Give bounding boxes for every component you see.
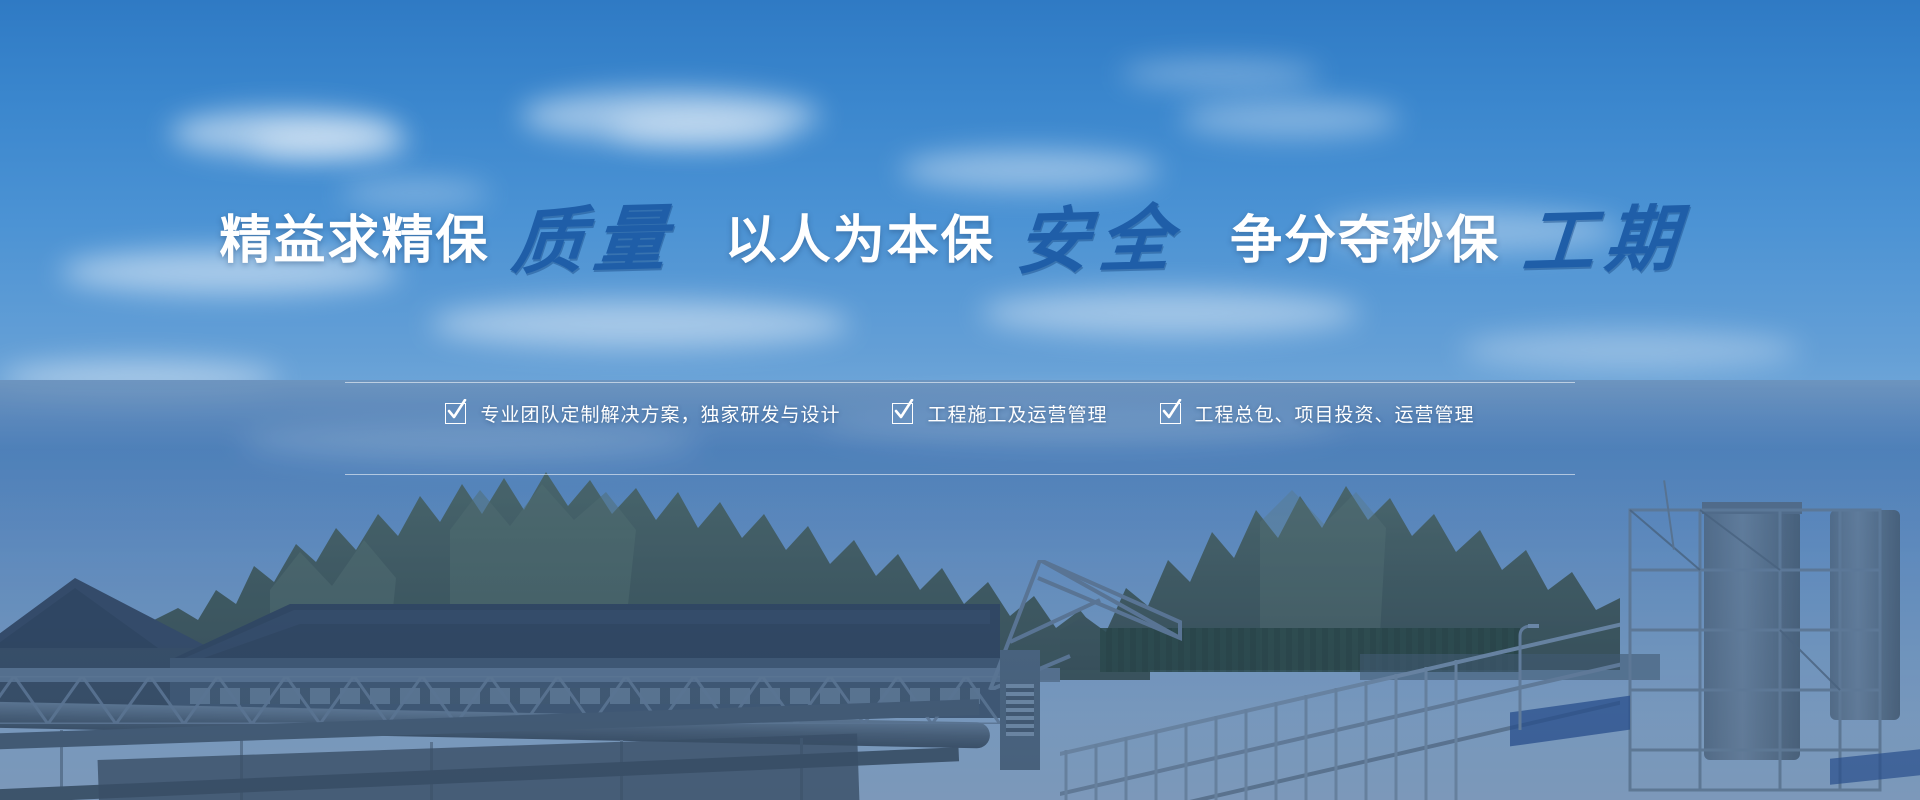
feature-item-label: 专业团队定制解决方案，独家研发与设计: [480, 400, 840, 427]
checkbox-checked-icon: [445, 403, 466, 424]
divider-bottom: [345, 474, 1575, 475]
feature-item-2[interactable]: 工程施工及运营管理: [892, 400, 1107, 427]
headline-segment-calligraphy-quality: 质量: [509, 203, 679, 279]
hero-banner: 精益求精保 质量 以人为本保 安全 争分夺秒保 工期 专业团队定制解决方案，独家…: [0, 0, 1920, 800]
headline-segment-plain-1: 精益求精保: [219, 215, 489, 267]
feature-list: 专业团队定制解决方案，独家研发与设计 工程施工及运营管理 工程总包、项目投资、运…: [0, 400, 1920, 427]
divider-top: [345, 382, 1575, 383]
headline-segment-plain-2: 以人为本保: [725, 215, 995, 267]
checkbox-checked-icon: [892, 403, 913, 424]
feature-item-label: 工程总包、项目投资、运营管理: [1195, 400, 1475, 427]
headline-segment-calligraphy-safety: 安全: [1014, 203, 1184, 279]
checkbox-checked-icon: [1160, 403, 1181, 424]
feature-item-1[interactable]: 专业团队定制解决方案，独家研发与设计: [445, 400, 840, 427]
feature-item-3[interactable]: 工程总包、项目投资、运营管理: [1160, 400, 1475, 427]
banner-content: 精益求精保 质量 以人为本保 安全 争分夺秒保 工期 专业团队定制解决方案，独家…: [0, 0, 1920, 800]
headline-segment-calligraphy-schedule: 工期: [1520, 203, 1690, 279]
feature-item-label: 工程施工及运营管理: [927, 400, 1107, 427]
headline-segment-plain-3: 争分夺秒保: [1230, 215, 1500, 267]
headline: 精益求精保 质量 以人为本保 安全 争分夺秒保 工期: [0, 205, 1920, 277]
